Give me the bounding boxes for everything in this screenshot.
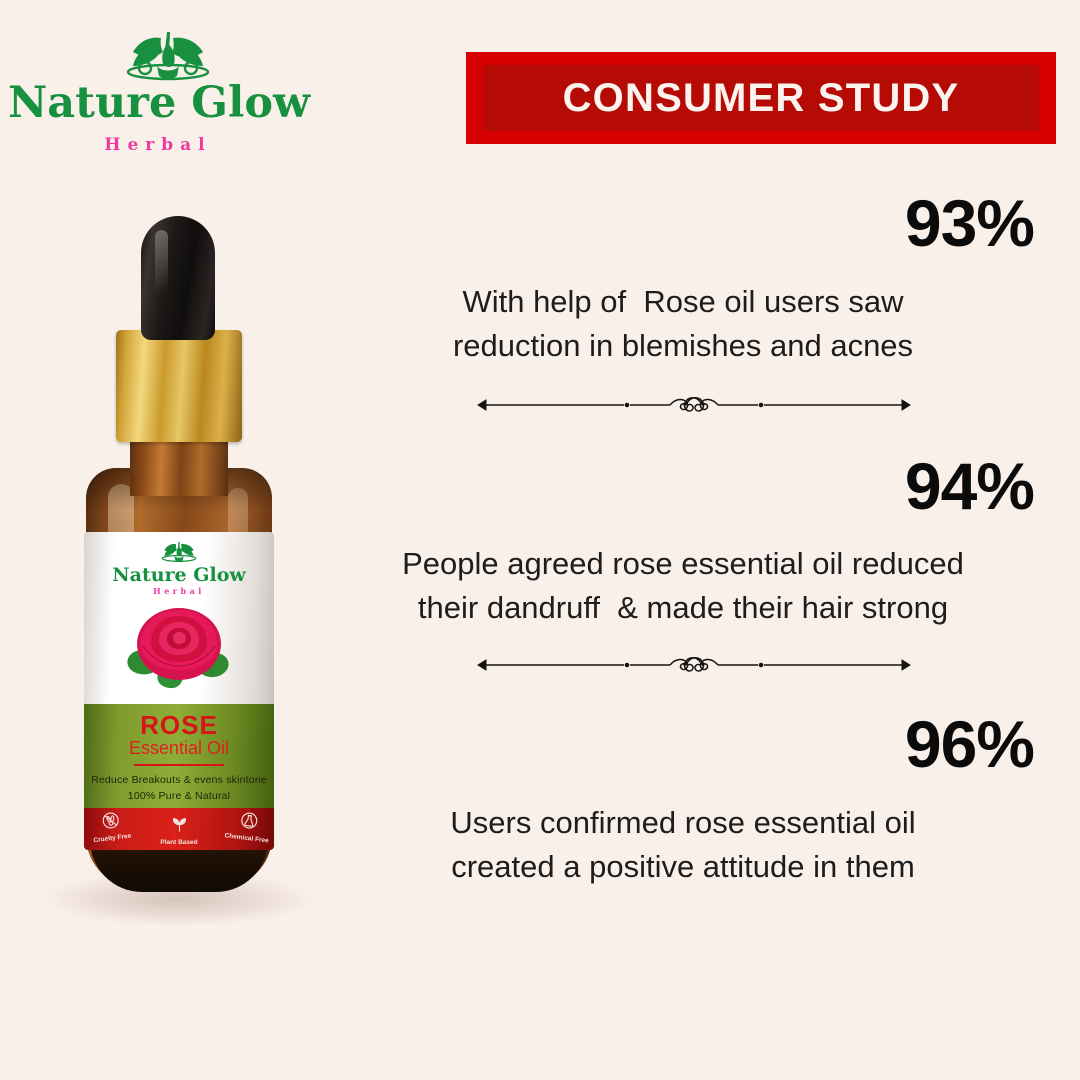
badge-chemical-free: Chemical Free — [221, 809, 274, 845]
leaf-emblem-icon — [156, 540, 202, 566]
stat-description: With help of Rose oil users saw reductio… — [330, 258, 1058, 368]
rabbit-icon — [101, 811, 120, 830]
stat-block: 93% With help of Rose oil users saw redu… — [330, 175, 1058, 368]
header-banner-inner: CONSUMER STUDY — [483, 65, 1039, 131]
stat-block: 94% People agreed rose essential oil red… — [330, 418, 1058, 629]
label-underline — [134, 764, 224, 766]
stat-value: 96% — [330, 678, 1058, 779]
header-banner: CONSUMER STUDY — [466, 52, 1056, 144]
stats-column: 93% With help of Rose oil users saw redu… — [330, 175, 1058, 889]
badge-plant-based: Plant Based — [148, 816, 210, 846]
label-product-subtitle: Essential Oil — [84, 738, 274, 759]
logo-tagline: Herbal — [8, 135, 308, 155]
stat-block: 96% Users confirmed rose essential oil c… — [330, 678, 1058, 889]
logo-wordmark: Nature Glow — [8, 78, 308, 128]
rose-flower-image — [117, 600, 241, 700]
dropper-bulb — [141, 216, 215, 340]
label-brand-tagline: Herbal — [84, 586, 274, 596]
stat-value: 94% — [330, 418, 1058, 521]
stat-description: People agreed rose essential oil reduced… — [330, 522, 1058, 630]
label-brand-name: Nature Glow — [84, 564, 274, 586]
page-title: CONSUMER STUDY — [563, 76, 960, 121]
ornamental-divider — [330, 630, 1058, 678]
gold-collar — [116, 330, 242, 442]
flourish-divider-icon — [474, 392, 914, 418]
badge-label: Plant Based — [148, 839, 210, 846]
leaf-plant-icon — [171, 816, 188, 833]
stat-value: 93% — [330, 175, 1058, 258]
flask-icon — [239, 811, 258, 830]
label-claim-line-2: 100% Pure & Natural — [84, 790, 274, 802]
brand-logo: Nature Glow Herbal — [8, 28, 308, 158]
ornamental-divider — [330, 368, 1058, 418]
bottle-neck — [130, 438, 228, 496]
product-bottle-image: Nature Glow Herbal ROSE Essential Oil — [38, 200, 318, 960]
badge-cruelty-free: Cruelty Free — [85, 809, 136, 845]
flourish-divider-icon — [474, 652, 914, 678]
label-product-title: ROSE — [84, 710, 274, 741]
stat-description: Users confirmed rose essential oil creat… — [330, 779, 1058, 889]
label-claim-line-1: Reduce Breakouts & evens skintone — [84, 774, 274, 786]
product-label: Nature Glow Herbal ROSE Essential Oil — [84, 532, 274, 850]
